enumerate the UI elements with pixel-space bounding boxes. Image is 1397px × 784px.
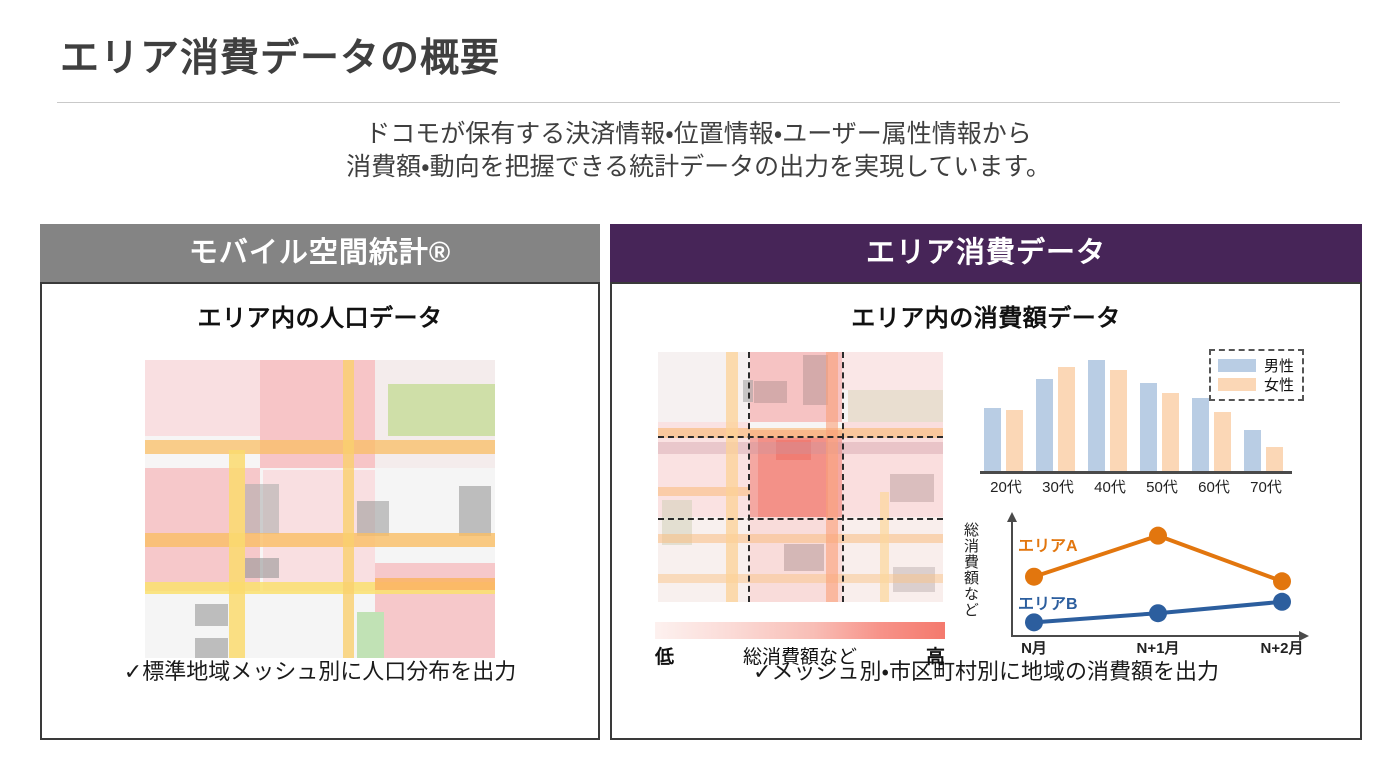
panel-subtitle-population: エリア内の人口データ bbox=[42, 284, 598, 333]
bar-x-tick-label: 60代 bbox=[1188, 476, 1240, 497]
slide-subtitle: ドコモが保有する決済情報・位置情報・ユーザー属性情報から 消費額・動向を把握でき… bbox=[0, 118, 1397, 184]
bar-female bbox=[1058, 367, 1075, 471]
bar-chart-x-axis: 20代30代40代50代60代70代 bbox=[980, 476, 1292, 502]
mesh-road bbox=[658, 442, 943, 454]
mesh-cell bbox=[459, 486, 491, 536]
bar-male bbox=[1036, 379, 1053, 471]
mesh-road bbox=[229, 450, 245, 658]
area-trend-line-chart: 総消費額など エリアA エリアB N月N+1月N+2月 bbox=[960, 508, 1310, 668]
bar-group bbox=[1088, 353, 1132, 471]
mesh-cell bbox=[784, 544, 824, 571]
bar-male bbox=[1088, 360, 1105, 471]
bar-group bbox=[1036, 353, 1080, 471]
bar-chart-legend: 男性女性 bbox=[1209, 349, 1304, 401]
mesh-cell bbox=[803, 355, 828, 405]
age-gender-bar-chart: 20代30代40代50代60代70代 男性女性 bbox=[980, 352, 1300, 502]
mesh-road bbox=[145, 440, 495, 454]
bar-x-tick-label: 50代 bbox=[1136, 476, 1188, 497]
mesh-road bbox=[726, 352, 738, 602]
bar-x-tick-label: 30代 bbox=[1032, 476, 1084, 497]
mesh-grid-line-horizontal bbox=[658, 436, 943, 438]
subtitle-line-2: 消費額・動向を把握できる統計データの出力を実現しています。 bbox=[0, 151, 1397, 184]
line-data-point bbox=[1025, 613, 1043, 631]
mesh-road bbox=[343, 360, 354, 658]
line-data-point bbox=[1025, 568, 1043, 586]
mesh-cell bbox=[842, 352, 943, 390]
mesh-road bbox=[658, 574, 943, 583]
consumption-colorbar: 低 総消費額など 高 bbox=[655, 622, 945, 672]
mesh-cell bbox=[388, 384, 495, 436]
line-data-point bbox=[1273, 572, 1291, 590]
mesh-road bbox=[880, 492, 889, 602]
mesh-cell bbox=[848, 390, 943, 422]
bar-x-tick-label: 20代 bbox=[980, 476, 1032, 497]
bar-male bbox=[1244, 430, 1261, 471]
colorbar-gradient bbox=[655, 622, 945, 639]
bar-male bbox=[984, 408, 1001, 471]
mesh-cell bbox=[890, 474, 934, 502]
bar-female bbox=[1266, 447, 1283, 471]
mesh-cell bbox=[357, 612, 384, 658]
mesh-cell bbox=[245, 484, 279, 534]
mesh-cell bbox=[357, 501, 389, 536]
mesh-cell bbox=[195, 604, 228, 626]
population-mesh-map bbox=[145, 360, 495, 658]
line-x-tick-label: N+1月 bbox=[1132, 637, 1184, 658]
colorbar-center-label: 総消費額など bbox=[655, 642, 945, 669]
bar-x-tick-label: 40代 bbox=[1084, 476, 1136, 497]
bar-female bbox=[1006, 410, 1023, 471]
bar-group bbox=[984, 353, 1028, 471]
mesh-grid-line-vertical bbox=[748, 352, 750, 602]
panel-header-mobile-kukan-toukei: モバイル空間統計® bbox=[40, 224, 600, 282]
mesh-cell bbox=[754, 381, 787, 403]
mesh-grid-line-vertical bbox=[842, 352, 844, 602]
legend-label: 男性 bbox=[1264, 355, 1294, 376]
line-data-point bbox=[1149, 527, 1167, 545]
bar-x-tick-label: 70代 bbox=[1240, 476, 1292, 497]
mesh-cell bbox=[195, 638, 228, 658]
mesh-cell bbox=[145, 360, 260, 436]
legend-label: 女性 bbox=[1264, 374, 1294, 395]
line-data-point bbox=[1273, 593, 1291, 611]
mesh-road bbox=[658, 534, 943, 543]
mesh-grid-line-horizontal bbox=[658, 518, 943, 520]
legend-row: 男性 bbox=[1218, 356, 1294, 375]
line-series-label-area-a: エリアA bbox=[1018, 532, 1078, 556]
bar-male bbox=[1192, 398, 1209, 471]
subtitle-line-1: ドコモが保有する決済情報・位置情報・ユーザー属性情報から bbox=[0, 118, 1397, 151]
panel-caption-left: ✓標準地域メッシュ別に人口分布を出力 bbox=[42, 654, 598, 686]
legend-row: 女性 bbox=[1218, 375, 1294, 394]
line-data-point bbox=[1149, 604, 1167, 622]
colorbar-labels: 低 総消費額など 高 bbox=[655, 642, 945, 672]
bar-male bbox=[1140, 383, 1157, 472]
legend-swatch-female bbox=[1218, 378, 1256, 391]
bar-female bbox=[1214, 412, 1231, 471]
mesh-cell bbox=[245, 558, 279, 578]
mesh-road bbox=[145, 533, 495, 547]
title-divider bbox=[57, 102, 1340, 103]
line-x-tick-label: N月 bbox=[1008, 637, 1060, 658]
mesh-road bbox=[826, 352, 838, 602]
page-title: エリア消費データの概要 bbox=[60, 27, 500, 83]
y-axis-arrow bbox=[1007, 512, 1017, 522]
bar-group bbox=[1140, 353, 1184, 471]
mesh-cell bbox=[145, 591, 375, 658]
mesh-road bbox=[375, 578, 495, 590]
bar-female bbox=[1162, 393, 1179, 471]
panel-header-area-shohi-data: エリア消費データ bbox=[610, 224, 1362, 282]
bar-female bbox=[1110, 370, 1127, 471]
line-x-tick-label: N+2月 bbox=[1256, 637, 1308, 658]
legend-swatch-male bbox=[1218, 359, 1256, 372]
colorbar-high-label: 高 bbox=[926, 642, 945, 669]
consumption-mesh-map bbox=[658, 352, 943, 602]
panel-subtitle-consumption: エリア内の消費額データ bbox=[612, 284, 1360, 333]
line-series-label-area-b: エリアB bbox=[1018, 590, 1078, 614]
